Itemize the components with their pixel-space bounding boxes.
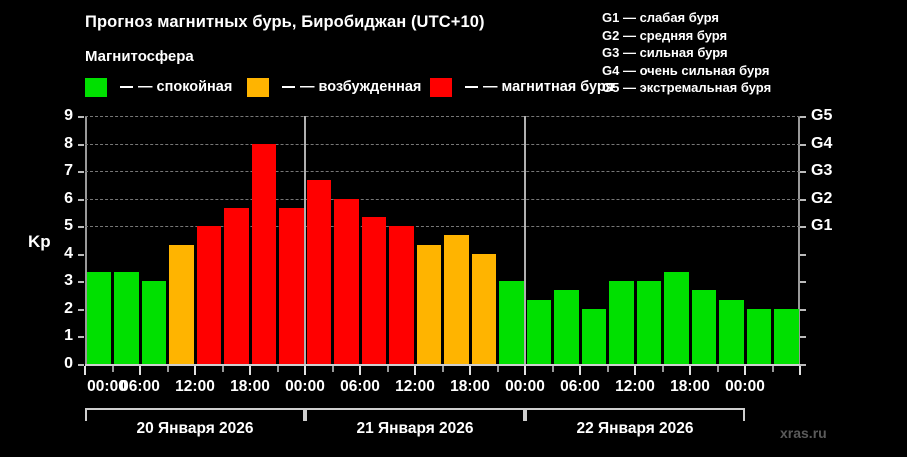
bar bbox=[774, 309, 799, 364]
bar bbox=[692, 290, 717, 364]
bracket-tick-left bbox=[525, 410, 527, 421]
bar bbox=[114, 272, 139, 364]
y-tick-left bbox=[78, 254, 84, 256]
x-tick-minor bbox=[167, 366, 169, 372]
legend-dash-icon bbox=[465, 86, 478, 89]
bracket-tick-right bbox=[743, 410, 745, 421]
legend-swatch-icon bbox=[430, 78, 452, 97]
x-tick-major bbox=[744, 366, 746, 375]
page-title: Прогноз магнитных бурь, Биробиджан (UTC+… bbox=[85, 13, 485, 32]
x-tick-minor bbox=[607, 366, 609, 372]
y-tick-left bbox=[78, 336, 84, 338]
g-axis-label-G5: G5 bbox=[811, 107, 832, 125]
legend-label: — магнитная буря bbox=[483, 79, 614, 95]
x-axis-label: 12:00 bbox=[615, 378, 655, 396]
magnetosphere-legend-title: Магнитосфера bbox=[85, 48, 194, 65]
x-tick-major bbox=[579, 366, 581, 375]
bar bbox=[719, 300, 744, 364]
bar bbox=[87, 272, 112, 364]
legend-item-2: — магнитная буря bbox=[430, 76, 614, 98]
day-separator-2 bbox=[524, 116, 526, 364]
x-tick-minor bbox=[332, 366, 334, 372]
legend-item-1: — возбужденная bbox=[247, 76, 421, 98]
magnetic-storm-forecast-chart: Прогноз магнитных бурь, Биробиджан (UTC+… bbox=[0, 0, 907, 457]
g-scale-row-3: G3 — сильная буря bbox=[602, 44, 771, 62]
y-tick-right bbox=[800, 116, 806, 118]
legend-swatch-icon bbox=[247, 78, 269, 97]
bar bbox=[169, 245, 194, 364]
bar bbox=[279, 208, 304, 364]
x-tick-major bbox=[799, 366, 801, 375]
g-scale-row-2: G2 — средняя буря bbox=[602, 27, 771, 45]
x-tick-major bbox=[84, 366, 86, 375]
y-tick-left bbox=[78, 199, 84, 201]
x-axis-label: 00:00 bbox=[285, 378, 325, 396]
day-bracket-3 bbox=[525, 408, 745, 419]
x-tick-major bbox=[414, 366, 416, 375]
y-axis-label-8: 8 bbox=[64, 135, 73, 153]
plot-area: 0123456789 G1G2G3G4G5 bbox=[85, 116, 800, 364]
watermark: xras.ru bbox=[780, 425, 827, 441]
bar-series bbox=[85, 116, 800, 364]
bar bbox=[472, 254, 497, 364]
x-tick-minor bbox=[442, 366, 444, 372]
x-tick-major bbox=[469, 366, 471, 375]
bar bbox=[142, 281, 167, 364]
x-tick-minor bbox=[497, 366, 499, 372]
day-label-1: 20 Января 2026 bbox=[136, 420, 253, 438]
legend-item-0: — спокойная bbox=[85, 76, 232, 98]
x-tick-major bbox=[524, 366, 526, 375]
x-axis-label: 06:00 bbox=[560, 378, 600, 396]
x-tick-major bbox=[139, 366, 141, 375]
day-label-2: 21 Января 2026 bbox=[356, 420, 473, 438]
y-axis-label-1: 1 bbox=[64, 327, 73, 345]
y-axis-label-7: 7 bbox=[64, 162, 73, 180]
bar bbox=[362, 217, 387, 364]
legend-label: — возбужденная bbox=[300, 79, 421, 95]
y-tick-left bbox=[78, 171, 84, 173]
x-axis-label: 18:00 bbox=[230, 378, 270, 396]
x-tick-major bbox=[304, 366, 306, 375]
bracket-tick-left bbox=[305, 410, 307, 421]
y-tick-left bbox=[78, 309, 84, 311]
x-tick-major bbox=[359, 366, 361, 375]
bar bbox=[417, 245, 442, 364]
bar bbox=[307, 180, 332, 364]
y-tick-left bbox=[78, 116, 84, 118]
day-bracket-2 bbox=[305, 408, 525, 419]
x-tick-minor bbox=[112, 366, 114, 372]
x-axis-label: 18:00 bbox=[670, 378, 710, 396]
x-tick-minor bbox=[772, 366, 774, 372]
x-tick-major bbox=[194, 366, 196, 375]
y-tick-right bbox=[800, 254, 806, 256]
g-axis-label-G2: G2 bbox=[811, 190, 832, 208]
day-separator-1 bbox=[304, 116, 306, 364]
x-axis-label: 00:00 bbox=[725, 378, 765, 396]
g-scale-row-4: G4 — очень сильная буря bbox=[602, 62, 771, 80]
g-axis-label-G1: G1 bbox=[811, 217, 832, 235]
g-axis-label-G4: G4 bbox=[811, 135, 832, 153]
y-tick-right bbox=[800, 144, 806, 146]
bar bbox=[389, 226, 414, 364]
y-axis-label-3: 3 bbox=[64, 272, 73, 290]
y-axis-label-4: 4 bbox=[64, 245, 73, 263]
y-axis-label-9: 9 bbox=[64, 107, 73, 125]
x-axis-label: 12:00 bbox=[395, 378, 435, 396]
legend-swatch-icon bbox=[85, 78, 107, 97]
y-tick-right bbox=[800, 171, 806, 173]
bar bbox=[637, 281, 662, 364]
x-axis-label: 06:00 bbox=[340, 378, 380, 396]
x-tick-minor bbox=[277, 366, 279, 372]
g-scale-row-1: G1 — слабая буря bbox=[602, 9, 771, 27]
bar bbox=[609, 281, 634, 364]
y-tick-right bbox=[800, 281, 806, 283]
x-axis-label: 00:00 bbox=[505, 378, 545, 396]
x-tick-minor bbox=[552, 366, 554, 372]
bar bbox=[554, 290, 579, 364]
legend-label: — спокойная bbox=[138, 79, 232, 95]
x-tick-minor bbox=[662, 366, 664, 372]
bar bbox=[334, 199, 359, 364]
bracket-tick-left bbox=[85, 410, 87, 421]
y-tick-right bbox=[800, 199, 806, 201]
y-tick-right bbox=[800, 226, 806, 228]
y-axis-title: Kp bbox=[28, 232, 51, 252]
g-axis-label-G3: G3 bbox=[811, 162, 832, 180]
day-bracket-1 bbox=[85, 408, 305, 419]
y-tick-left bbox=[78, 281, 84, 283]
x-axis-label: 12:00 bbox=[175, 378, 215, 396]
day-label-3: 22 Января 2026 bbox=[576, 420, 693, 438]
x-axis-label: 18:00 bbox=[450, 378, 490, 396]
bar bbox=[527, 300, 552, 364]
y-axis-label-0: 0 bbox=[64, 355, 73, 373]
y-axis-label-6: 6 bbox=[64, 190, 73, 208]
y-axis-label-2: 2 bbox=[64, 300, 73, 318]
y-tick-left bbox=[78, 226, 84, 228]
bar bbox=[224, 208, 249, 364]
x-tick-minor bbox=[222, 366, 224, 372]
x-tick-major bbox=[689, 366, 691, 375]
y-tick-right bbox=[800, 309, 806, 311]
y-axis-label-5: 5 bbox=[64, 217, 73, 235]
y-tick-left bbox=[78, 144, 84, 146]
x-tick-major bbox=[634, 366, 636, 375]
g-scale-row-5: G5 — экстремальная буря bbox=[602, 79, 771, 97]
x-tick-minor bbox=[387, 366, 389, 372]
bar bbox=[252, 144, 277, 364]
bar bbox=[747, 309, 772, 364]
g-scale-legend: G1 — слабая буряG2 — средняя буряG3 — си… bbox=[602, 9, 771, 97]
x-axis-label: 06:00 bbox=[120, 378, 160, 396]
bar bbox=[197, 226, 222, 364]
y-tick-right bbox=[800, 336, 806, 338]
bar bbox=[664, 272, 689, 364]
legend-dash-icon bbox=[120, 86, 133, 89]
x-tick-minor bbox=[717, 366, 719, 372]
legend-dash-icon bbox=[282, 86, 295, 89]
bar bbox=[499, 281, 524, 364]
bar bbox=[582, 309, 607, 364]
x-tick-major bbox=[249, 366, 251, 375]
bar bbox=[444, 235, 469, 364]
